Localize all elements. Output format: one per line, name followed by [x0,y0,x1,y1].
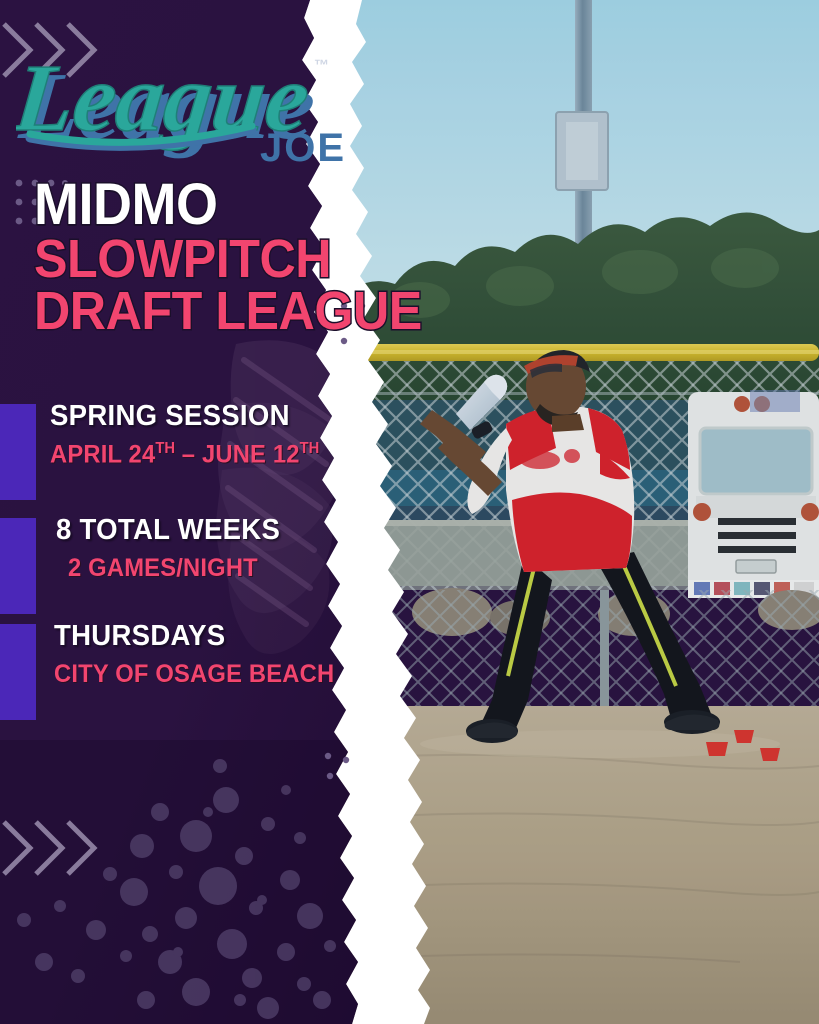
panel-content: League League JOE ™ [0,0,400,1024]
accent-bar [0,518,36,614]
info-title-weeks: 8 TOTAL WEEKS [56,514,389,547]
logo-trademark: ™ [314,57,329,74]
poster-canvas: League League JOE ™ [0,0,819,1024]
accent-bar [0,624,36,720]
info-sub-dates: APRIL 24TH – JUNE 12TH [50,440,383,469]
title-line-slowpitch: SLOWPITCH [34,235,369,285]
page-title: MIDMO SLOWPITCH DRAFT LEAGUE [34,178,394,337]
title-line-midmo: MIDMO [34,178,369,231]
dot-grid-decoration-lower [322,750,362,790]
league-joe-logo: League League JOE ™ [16,34,346,169]
info-title-day: THURSDAYS [54,620,387,653]
info-sub-location: CITY OF OSAGE BEACH [54,660,387,689]
info-sub-games: 2 GAMES/NIGHT [68,554,389,583]
ordinal-suffix-start: TH [155,440,175,457]
ordinal-suffix-end: TH [300,440,320,457]
accent-bar [0,404,36,500]
title-line-draft-league: DRAFT LEAGUE [34,287,369,337]
info-row-weeks: 8 TOTAL WEEKS 2 GAMES/NIGHT [0,514,400,618]
info-row-day-location: THURSDAYS CITY OF OSAGE BEACH [0,620,400,724]
info-title-session: SPRING SESSION [50,400,383,433]
info-row-session: SPRING SESSION APRIL 24TH – JUNE 12TH [0,400,400,504]
logo-joe: JOE [260,126,346,169]
chevron-decoration-bottom [2,812,107,884]
